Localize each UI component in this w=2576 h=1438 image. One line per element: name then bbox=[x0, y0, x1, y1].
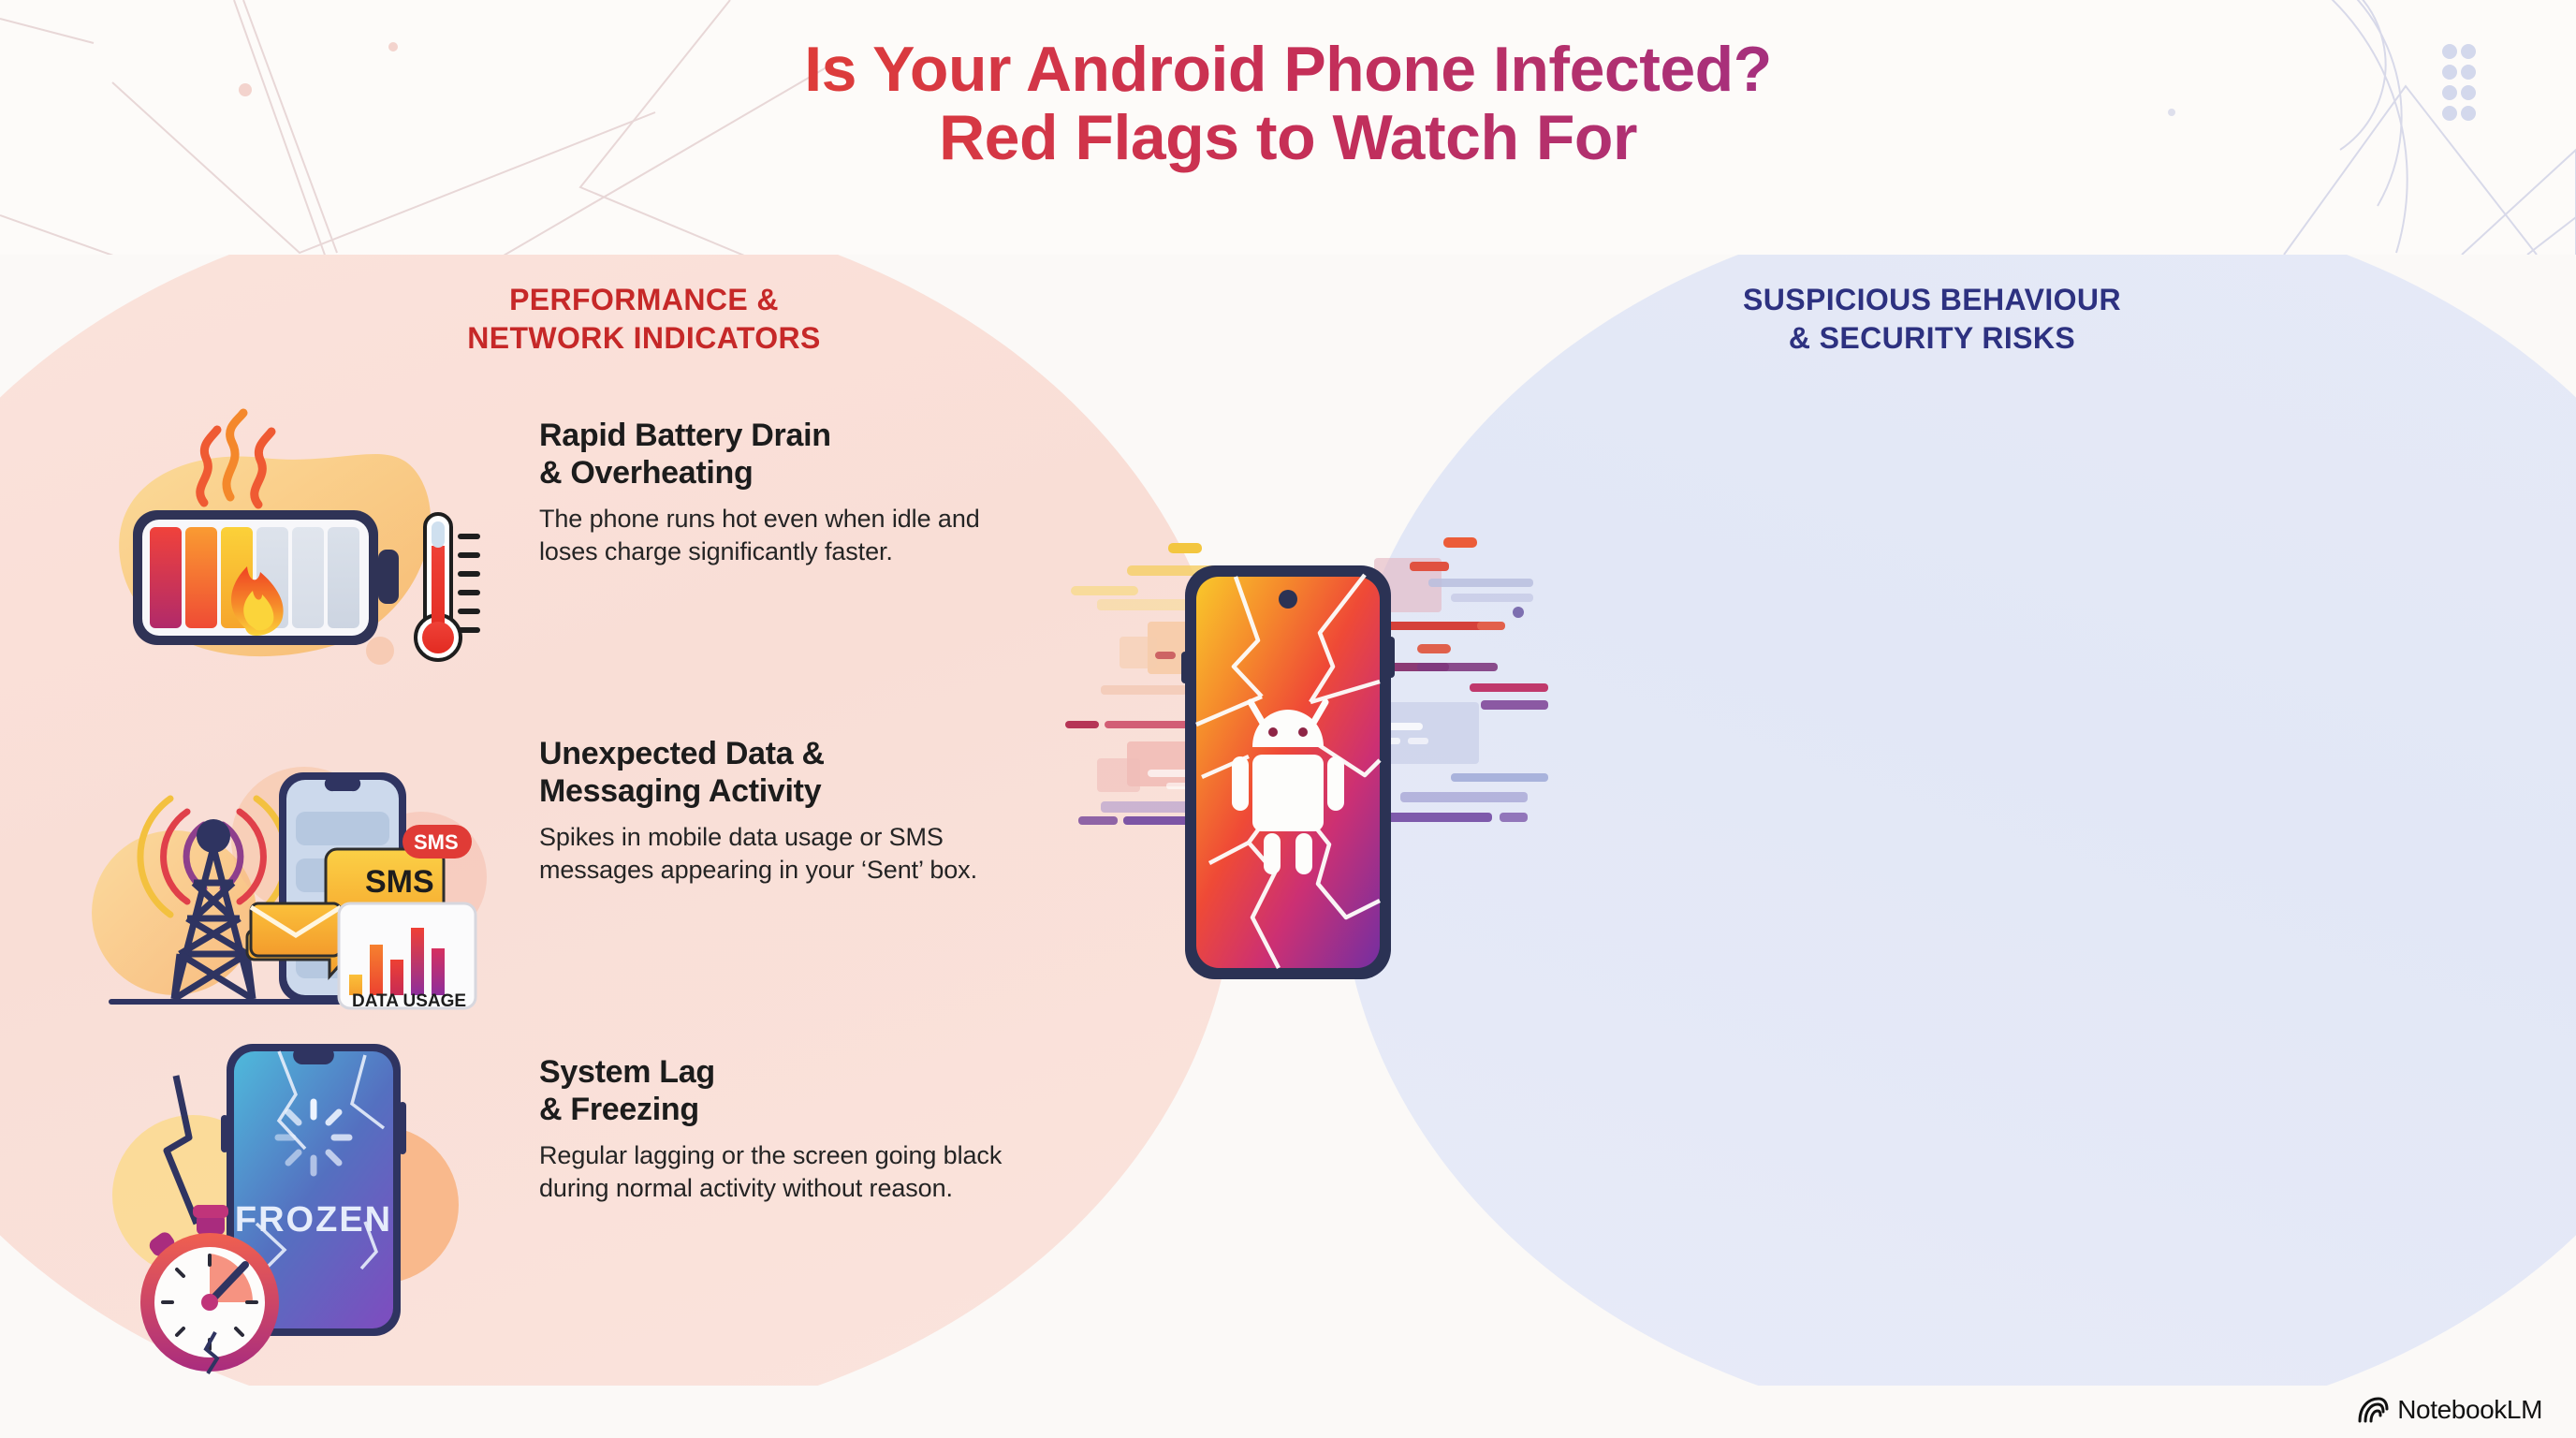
data-usage-caption: DATA USAGE bbox=[352, 991, 466, 1011]
brand-lockup: NotebookLM bbox=[2358, 1395, 2542, 1425]
left-item-1-text: Rapid Battery Drain & Overheating The ph… bbox=[539, 400, 1045, 568]
left-item-2-title-line-2: Messaging Activity bbox=[539, 772, 1045, 810]
left-heading-line-2: NETWORK INDICATORS bbox=[0, 319, 1288, 358]
brand-name: NotebookLM bbox=[2397, 1395, 2542, 1425]
left-item-3-text: System Lag & Freezing Regular lagging or… bbox=[539, 1036, 1045, 1205]
title-line-1: Is Your Android Phone Infected? bbox=[0, 36, 2576, 104]
left-item-3-title-line-2: & Freezing bbox=[539, 1091, 1045, 1128]
page-title: Is Your Android Phone Infected? Red Flag… bbox=[0, 36, 2576, 173]
left-item-2-title-line-1: Unexpected Data & bbox=[539, 735, 1045, 772]
title-line-2: Red Flags to Watch For bbox=[0, 104, 2576, 172]
frozen-screen-label: FROZEN bbox=[235, 1200, 392, 1240]
right-heading-line-1: SUSPICIOUS BEHAVIOUR bbox=[1288, 281, 2576, 319]
battery-overheating-icon bbox=[84, 400, 515, 699]
left-item-2-text: Unexpected Data & Messaging Activity Spi… bbox=[539, 718, 1045, 887]
left-item-3-title-line-1: System Lag bbox=[539, 1053, 1045, 1091]
cracked-android-phone-icon bbox=[1181, 562, 1395, 983]
left-item-3-body: Regular lagging or the screen going blac… bbox=[539, 1139, 1045, 1205]
left-item-2-body: Spikes in mobile data usage or SMS messa… bbox=[539, 821, 1045, 887]
header-band: Is Your Android Phone Infected? Red Flag… bbox=[0, 0, 2576, 255]
left-section-heading: PERFORMANCE & NETWORK INDICATORS bbox=[0, 281, 1288, 358]
infographic-canvas: Is Your Android Phone Infected? Red Flag… bbox=[0, 0, 2576, 1438]
left-heading-line-1: PERFORMANCE & bbox=[0, 281, 1288, 319]
right-section-heading: SUSPICIOUS BEHAVIOUR & SECURITY RISKS bbox=[1288, 281, 2576, 358]
notebooklm-spiral-icon bbox=[2358, 1396, 2388, 1424]
left-item-3: FROZEN bbox=[84, 1036, 1207, 1336]
left-item-1-title-line-1: Rapid Battery Drain bbox=[539, 417, 1045, 454]
left-item-1-title-line-2: & Overheating bbox=[539, 454, 1045, 492]
right-heading-line-2: & SECURITY RISKS bbox=[1288, 319, 2576, 358]
footer-band: NotebookLM bbox=[0, 1386, 2576, 1438]
svg-text:SMS: SMS bbox=[414, 830, 459, 854]
left-item-1: Rapid Battery Drain & Overheating The ph… bbox=[84, 400, 1207, 699]
svg-text:SMS: SMS bbox=[365, 864, 434, 900]
cell-tower-sms-data-icon: SMS SMS bbox=[84, 718, 515, 1018]
left-item-2: SMS SMS bbox=[84, 718, 1207, 1018]
frozen-phone-stopwatch-icon: FROZEN bbox=[84, 1036, 515, 1336]
left-item-1-body: The phone runs hot even when idle and lo… bbox=[539, 503, 1045, 568]
